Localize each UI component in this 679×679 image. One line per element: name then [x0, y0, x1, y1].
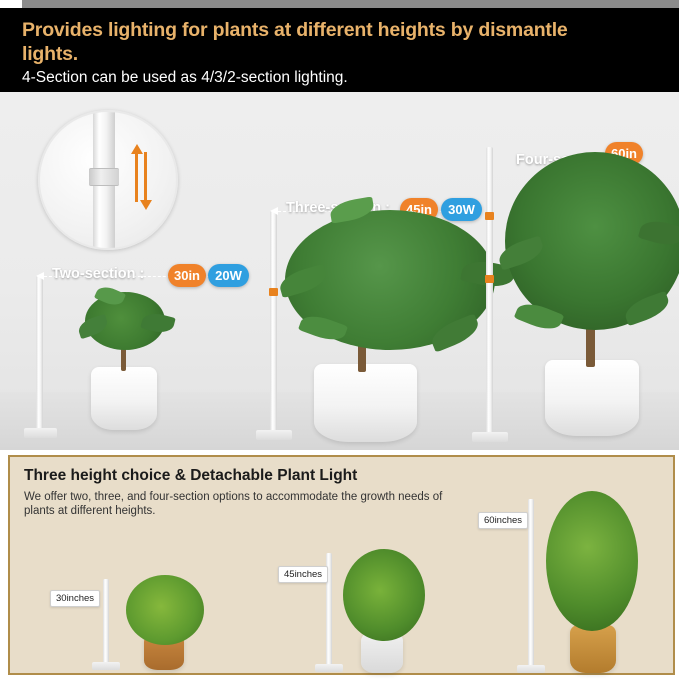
header-banner: Provides lighting for plants at differen…	[0, 8, 679, 92]
tag-30inches: 30inches	[50, 590, 100, 607]
badge-two-section-height: 30in	[168, 264, 206, 287]
badge-two-section-power: 20W	[208, 264, 249, 287]
banner-title: Provides lighting for plants at differen…	[22, 18, 622, 66]
lamp-joint-four-section-upper	[485, 212, 494, 220]
up-down-arrow-icon-2	[144, 152, 147, 202]
top-grey-strip	[0, 0, 679, 8]
panel-lamp-base-30	[92, 662, 120, 670]
panel-plant-60	[546, 491, 638, 631]
product-infographic: Provides lighting for plants at differen…	[0, 0, 679, 679]
plant-pot-small	[91, 367, 157, 430]
tag-45inches: 45inches	[278, 566, 328, 583]
panel-lamp-pole-60	[528, 499, 534, 667]
arrow-head-up-icon	[131, 144, 143, 154]
lamp-pole-two-section	[36, 275, 43, 430]
arrow-head-down-icon	[140, 200, 152, 210]
banner-subtitle: 4-Section can be used as 4/3/2-section l…	[22, 69, 642, 87]
main-photo: Two-section : 30in 20W Three-section : 4…	[0, 92, 679, 450]
tag-60inches: 60inches	[478, 512, 528, 529]
bottom-panel: Three height choice & Detachable Plant L…	[8, 455, 675, 675]
pole-joint-detail	[89, 168, 119, 186]
plant-pot-medium	[314, 364, 417, 442]
panel-lamp-base-45	[315, 664, 343, 672]
label-two-section: Two-section :	[52, 266, 144, 282]
measure-arrow-two-section	[36, 272, 44, 280]
panel-plant-30	[126, 575, 204, 645]
panel-lamp-base-60	[517, 665, 545, 673]
badge-three-section-power: 30W	[441, 198, 482, 221]
lamp-base-four-section	[472, 432, 508, 442]
panel-plant-45	[343, 549, 425, 641]
panel-pot-60	[570, 625, 616, 673]
panel-title: Three height choice & Detachable Plant L…	[24, 467, 357, 485]
lamp-base-two-section	[24, 428, 57, 438]
lamp-base-three-section	[256, 430, 292, 440]
panel-subtitle: We offer two, three, and four-section op…	[24, 490, 454, 518]
lamp-pole-three-section	[270, 210, 277, 432]
top-white-notch	[0, 0, 22, 8]
lamp-pole-four-section	[486, 147, 493, 434]
up-down-arrow-icon	[135, 152, 138, 202]
plant-pot-large	[545, 360, 639, 436]
measure-arrow-three-section	[270, 207, 278, 215]
detail-zoom-inset	[38, 110, 178, 250]
lamp-joint-three-section	[269, 288, 278, 296]
lamp-joint-four-section-lower	[485, 275, 494, 283]
panel-lamp-pole-30	[103, 579, 109, 664]
